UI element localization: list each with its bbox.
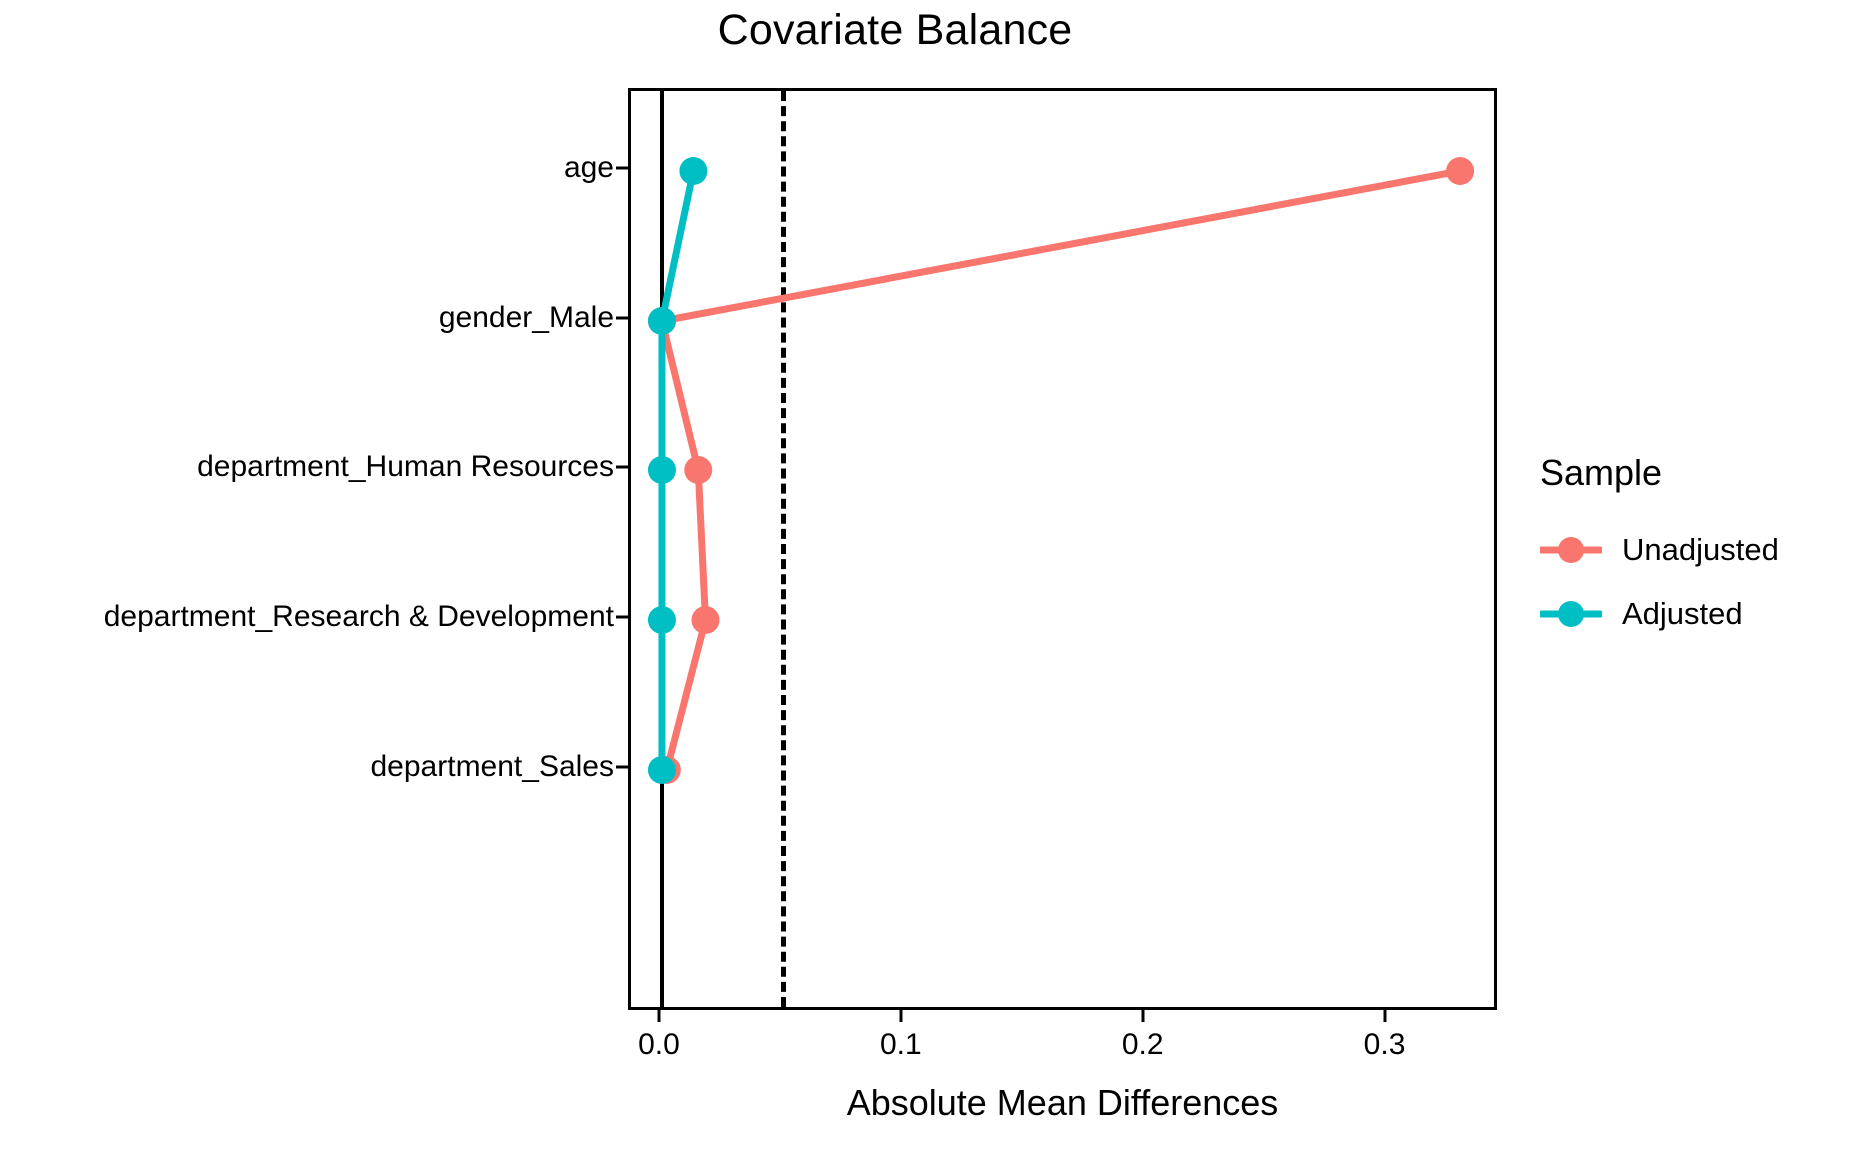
legend-items: UnadjustedAdjusted [1540,522,1860,642]
x-axis-tick-mark [899,1010,902,1022]
legend-key-dot [1558,601,1584,627]
legend-key-icon [1540,530,1602,570]
x-axis-tick-label: 0.3 [1364,1028,1406,1062]
data-point[interactable] [691,606,719,634]
legend-key-icon [1540,594,1602,634]
legend-item-unadjusted[interactable]: Unadjusted [1540,522,1860,578]
data-point[interactable] [648,307,676,335]
y-axis-tick-label: department_Sales [371,750,615,784]
plot-panel [628,88,1497,1010]
y-axis-tick-label: department_Research & Development [104,600,614,634]
y-axis-tick-label: age [564,151,614,185]
data-point[interactable] [684,456,712,484]
x-axis-tick-mark [657,1010,660,1022]
y-axis-tick-mark [616,616,628,619]
data-point[interactable] [648,606,676,634]
legend-key-dot [1558,537,1584,563]
y-axis-tick-mark [616,167,628,170]
y-axis-ticks [628,88,642,1010]
x-axis-tick-label: 0.1 [880,1028,922,1062]
x-axis-tick-label: 0.0 [638,1028,680,1062]
legend-item-label: Adjusted [1622,596,1743,632]
series-layer [631,91,1500,1013]
data-point[interactable] [1446,157,1474,185]
data-point[interactable] [648,756,676,784]
x-axis: 0.00.10.20.3 [628,1010,1497,1080]
x-axis-tick-mark [1141,1010,1144,1022]
love-plot: Covariate Balance agegender_Maledepartme… [0,0,1872,1152]
x-axis-tick-mark [1383,1010,1386,1022]
series-line [662,171,1460,770]
y-axis-tick-mark [616,466,628,469]
page-title: Covariate Balance [0,6,1790,55]
x-axis-tick-label: 0.2 [1122,1028,1164,1062]
legend: Sample UnadjustedAdjusted [1540,452,1860,650]
series-unadjusted [648,157,1474,784]
legend-item-label: Unadjusted [1622,532,1779,568]
plot-panel-inner [631,91,1494,1007]
y-axis-tick-label: gender_Male [439,301,614,335]
x-axis-title: Absolute Mean Differences [628,1082,1497,1124]
data-point[interactable] [648,456,676,484]
y-axis-tick-label: department_Human Resources [197,450,614,484]
legend-item-adjusted[interactable]: Adjusted [1540,586,1860,642]
y-axis-labels: agegender_Maledepartment_Human Resources… [0,88,614,1010]
data-point[interactable] [679,157,707,185]
legend-title: Sample [1540,452,1860,494]
y-axis-tick-mark [616,317,628,320]
y-axis-tick-mark [616,766,628,769]
